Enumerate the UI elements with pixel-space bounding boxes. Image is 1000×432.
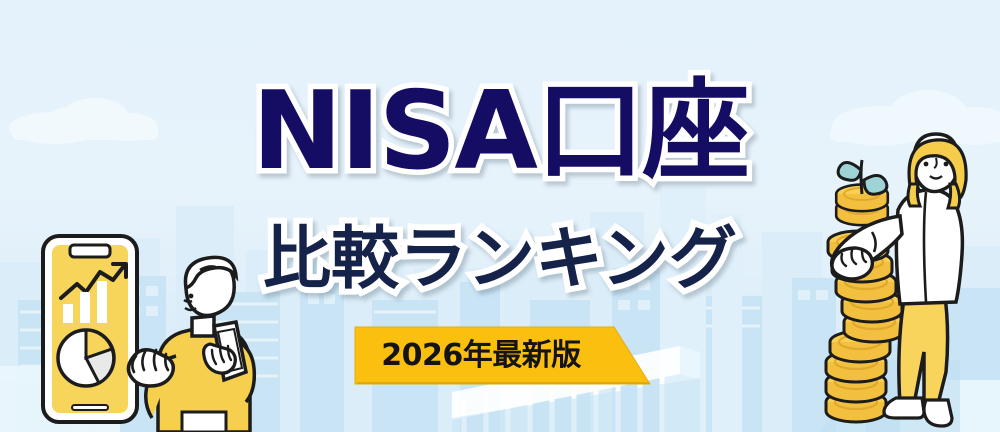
badge-label: 2026年最新版: [350, 322, 612, 382]
latest-edition-badge: 2026年最新版: [350, 322, 660, 388]
nisa-comparison-ranking-banner: 2026年最新版 NISA口座 比較ランキング: [0, 0, 1000, 432]
coin-stack-held-with-sprout: [836, 160, 888, 225]
